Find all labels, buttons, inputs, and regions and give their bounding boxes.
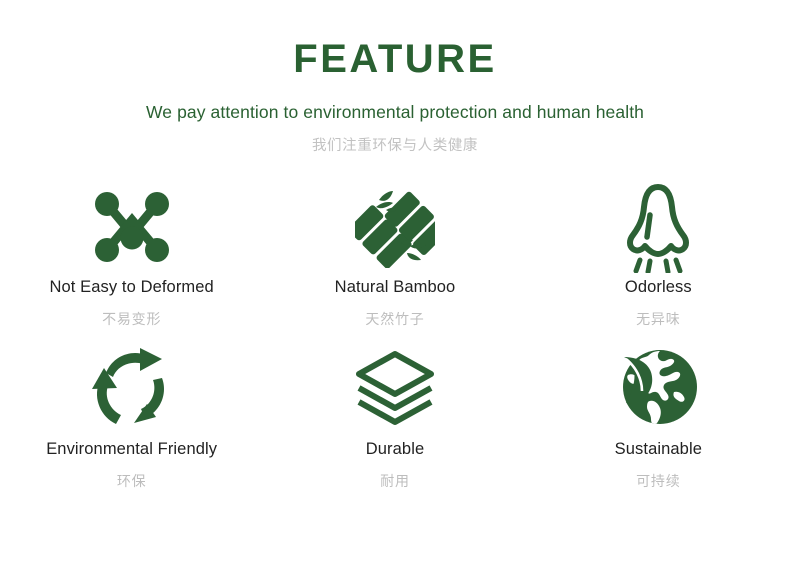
feature-label-en: Environmental Friendly (46, 440, 217, 459)
feature-item-odorless: Odorless 无异味 (527, 177, 790, 329)
feature-item-environmental-friendly: Environmental Friendly 环保 (0, 335, 263, 491)
feature-label-cn: 环保 (117, 471, 147, 491)
molecule-nodes-icon (91, 177, 173, 277)
feature-label-cn: 无异味 (636, 309, 680, 329)
feature-item-natural-bamboo: Natural Bamboo 天然竹子 (263, 177, 526, 329)
feature-label-cn: 天然竹子 (365, 309, 424, 329)
feature-item-not-easy-to-deformed: Not Easy to Deformed 不易变形 (0, 177, 263, 329)
feature-label-cn: 不易变形 (102, 309, 161, 329)
globe-leaf-icon (616, 335, 700, 439)
bamboo-stalks-icon (355, 177, 435, 277)
recycle-arrows-icon (90, 335, 174, 439)
feature-grid: Not Easy to Deformed 不易变形 (0, 177, 790, 491)
feature-label-cn: 耐用 (380, 471, 410, 491)
stacked-layers-icon (353, 335, 437, 439)
feature-label-en: Durable (366, 440, 424, 459)
feature-label-en: Not Easy to Deformed (50, 278, 214, 297)
feature-label-cn: 可持续 (636, 471, 680, 491)
feature-item-durable: Durable 耐用 (263, 335, 526, 491)
subtitle-chinese: 我们注重环保与人类健康 (312, 134, 478, 155)
feature-item-sustainable: Sustainable 可持续 (527, 335, 790, 491)
nose-smell-icon (620, 177, 696, 277)
page-title: FEATURE (293, 38, 496, 80)
feature-label-en: Odorless (625, 278, 692, 297)
feature-section: FEATURE We pay attention to environmenta… (0, 0, 790, 576)
feature-label-en: Natural Bamboo (335, 278, 456, 297)
subtitle-english: We pay attention to environmental protec… (146, 102, 644, 123)
feature-label-en: Sustainable (615, 440, 702, 459)
